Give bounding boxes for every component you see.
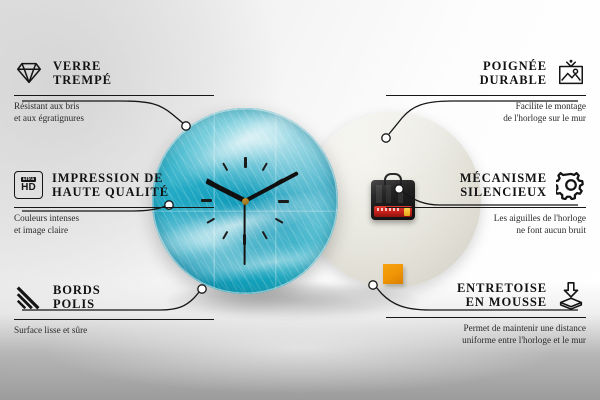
feature-header: MÉCANISME SILENCIEUX [386, 168, 586, 202]
feature-title: MÉCANISME SILENCIEUX [460, 171, 547, 200]
feature-divider [386, 95, 586, 96]
feature-entretoise-en-mousse: ENTRETOISE EN MOUSSE Permet de maintenir… [386, 278, 586, 346]
feature-description: Couleurs intenses et image claire [14, 213, 214, 236]
feature-mecanisme-silencieux: MÉCANISME SILENCIEUX Les aiguilles de l'… [386, 168, 586, 236]
feature-title: IMPRESSION DE HAUTE QUALITÉ [52, 171, 169, 200]
feature-title: VERRE TREMPÉ [53, 59, 112, 88]
feature-divider [386, 207, 586, 208]
feature-title: BORDS POLIS [53, 283, 101, 312]
picture-frame-hanger-icon [556, 58, 586, 88]
feature-title: ENTRETOISE EN MOUSSE [457, 281, 547, 310]
gear-icon [556, 170, 586, 200]
feature-header: ENTRETOISE EN MOUSSE [386, 278, 586, 312]
feature-divider [386, 317, 586, 318]
ultra-hd-badge-icon: ultra HD [14, 171, 43, 199]
feature-description: Surface lisse et sûre [14, 325, 214, 337]
feature-header: BORDS POLIS [14, 280, 214, 314]
feature-description: Résistant aux bris et aux égratignures [14, 101, 214, 124]
feature-header: ultra HD IMPRESSION DE HAUTE QUALITÉ [14, 168, 214, 202]
infographic-stage: VERRE TREMPÉ Résistant aux bris et aux é… [0, 0, 600, 400]
feature-description: Permet de maintenir une distance uniform… [386, 323, 586, 346]
feature-poignee-durable: POIGNÉE DURABLE Facilite le montage de l… [386, 56, 586, 124]
feature-divider [14, 207, 214, 208]
feature-impression-haute-qualite: ultra HD IMPRESSION DE HAUTE QUALITÉ Cou… [14, 168, 214, 236]
feature-header: VERRE TREMPÉ [14, 56, 214, 90]
feature-title: POIGNÉE DURABLE [480, 59, 547, 88]
foam-spacer-icon [556, 280, 586, 310]
feature-bords-polis: BORDS POLIS Surface lisse et sûre [14, 280, 214, 337]
feature-description: Les aiguilles de l'horloge ne font aucun… [386, 213, 586, 236]
feature-description: Facilite le montage de l'horloge sur le … [386, 101, 586, 124]
feature-divider [14, 95, 214, 96]
feature-divider [14, 319, 214, 320]
polished-edges-icon [14, 282, 44, 312]
diamond-icon [14, 58, 44, 88]
feature-verre-trempe: VERRE TREMPÉ Résistant aux bris et aux é… [14, 56, 214, 124]
ultra-hd-badge-bottom: HD [21, 183, 36, 193]
feature-header: POIGNÉE DURABLE [386, 56, 586, 90]
